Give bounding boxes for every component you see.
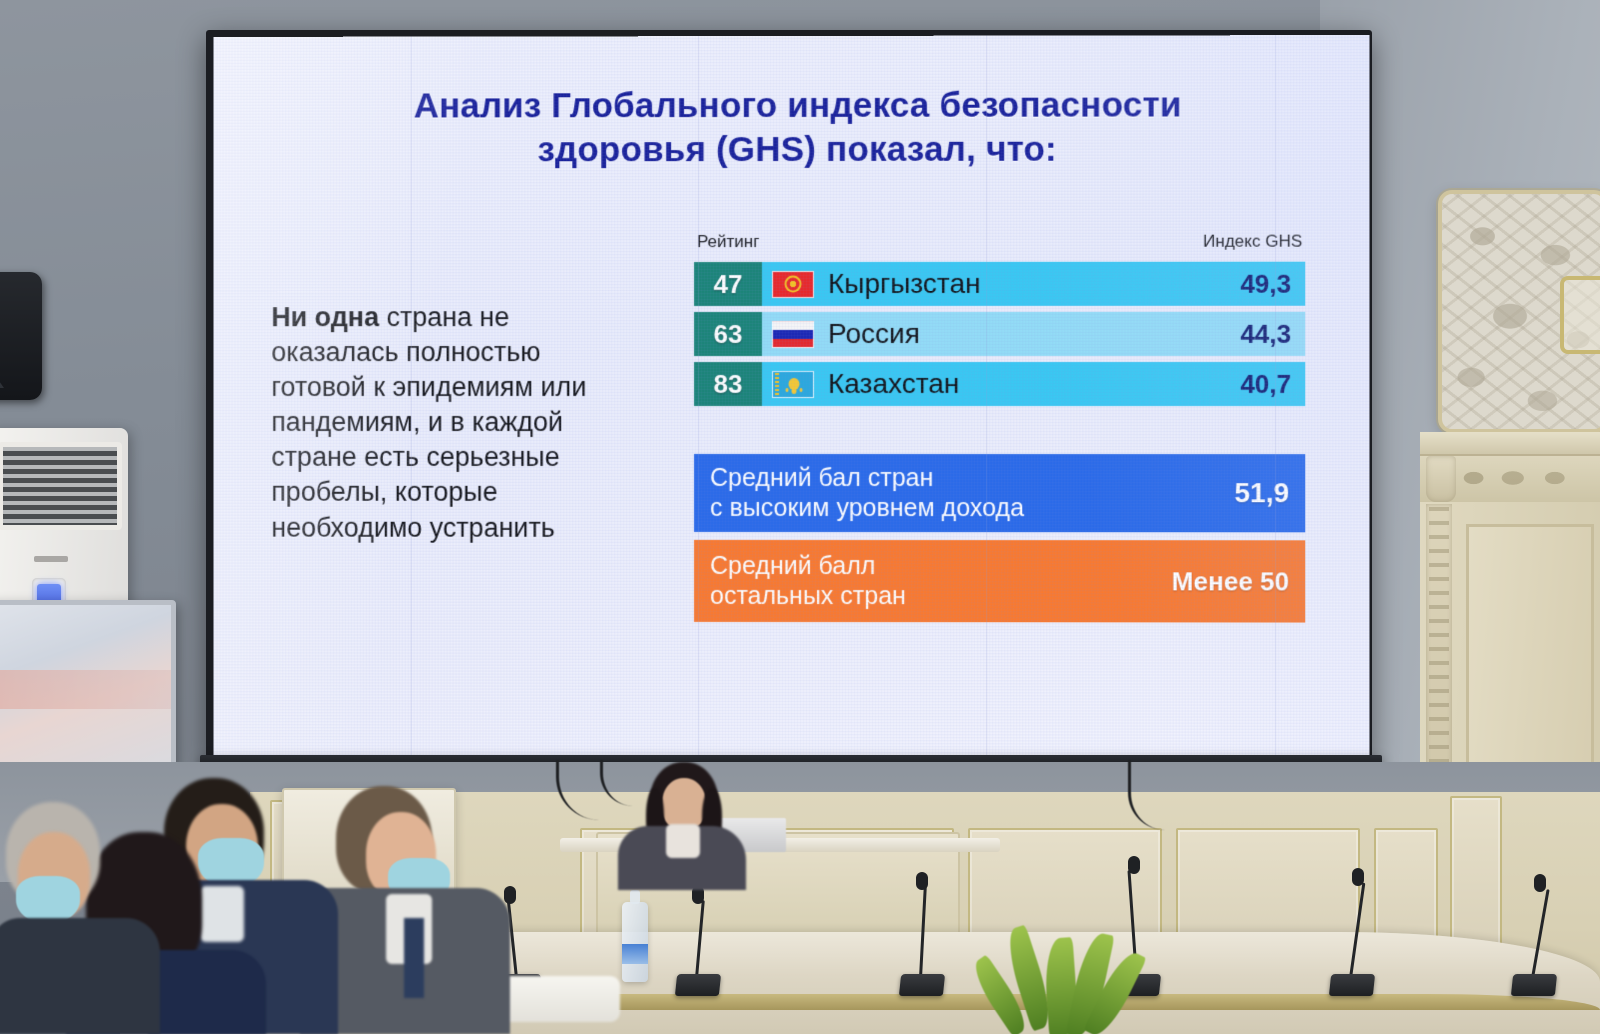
ceiling-speaker-icon [0, 272, 42, 400]
gooseneck-microphone [1330, 866, 1374, 996]
attendee-torso [0, 918, 160, 1034]
door-corbel [1426, 456, 1456, 502]
body-rest: страна не оказалась полностью готовой к … [271, 302, 586, 542]
door-cornice [1420, 432, 1600, 456]
table-row: 47 Кыргызстан 49,3 [694, 262, 1305, 306]
summary-value: 51,9 [1234, 477, 1305, 509]
summary-label: Средний балл остальных стран [694, 542, 1172, 619]
gooseneck-microphone [900, 870, 944, 996]
ghs-index-value: 44,3 [1240, 318, 1305, 349]
ac-brand-logo [34, 556, 68, 562]
slide-body-text: Ни одна страна не оказалась полностью го… [271, 300, 618, 545]
led-screen-display: Анализ Глобального индекса безопасности … [214, 35, 1370, 757]
presenter-face [662, 778, 706, 830]
table-row: 63 Россия 44,3 [694, 312, 1305, 356]
summary-box-other-countries: Средний балл остальных стран Менее 50 [694, 540, 1305, 623]
summary-box-high-income: Средний бал стран с высоким уровнем дохо… [694, 454, 1305, 532]
summary-value: Менее 50 [1172, 566, 1305, 597]
column-header-index: Индекс GHS [1203, 232, 1302, 252]
attendee-shirt [200, 886, 244, 942]
table-row: 83 Казахстан 40,7 [694, 362, 1305, 406]
attendee-face-mask [16, 876, 80, 924]
summary-label-line1: Средний бал стран [710, 462, 1234, 493]
ac-grille-icon [0, 442, 122, 530]
ghs-index-value: 49,3 [1240, 268, 1305, 299]
flag-kazakhstan-icon [772, 370, 814, 397]
summary-label-line2: с высоким уровнем дохода [710, 493, 1234, 524]
country-name: Казахстан [824, 368, 1240, 400]
column-header-rank: Рейтинг [697, 232, 759, 252]
rank-badge: 47 [694, 262, 762, 306]
gooseneck-microphone [676, 880, 720, 996]
flag-kyrgyzstan-icon [772, 270, 814, 297]
wall-medallion-icon [1560, 276, 1600, 354]
body-lead-emphasis: Ни одна [271, 302, 379, 332]
screenshot-root: Анализ Глобального индекса безопасности … [0, 0, 1600, 1034]
country-name: Кыргызстан [824, 268, 1240, 300]
flag-cell [762, 370, 824, 397]
ghs-index-table: Рейтинг Индекс GHS 47 Кыргызстан 49,3 63 [694, 232, 1305, 623]
summary-label: Средний бал стран с высоким уровнем дохо… [694, 454, 1234, 531]
attendee-tie [404, 918, 424, 998]
rank-badge: 83 [694, 362, 762, 406]
water-bottle [622, 902, 648, 982]
flag-russia-icon [772, 320, 814, 347]
ghs-index-value: 40,7 [1240, 368, 1305, 399]
presenter-collar [666, 824, 700, 858]
flag-cell [762, 270, 824, 297]
rank-badge: 63 [694, 312, 762, 356]
summary-label-line1: Средний балл [710, 550, 1172, 581]
damask-wall-panel [1438, 190, 1600, 433]
gooseneck-microphone [1512, 872, 1556, 996]
flag-cell [762, 320, 824, 347]
slide-title: Анализ Глобального индекса безопасности … [413, 83, 1183, 172]
potted-plant [980, 922, 1190, 1034]
country-name: Россия [824, 318, 1240, 350]
table-column-headers: Рейтинг Индекс GHS [694, 232, 1305, 258]
summary-label-line2: остальных стран [710, 581, 1172, 612]
presentation-slide: Анализ Глобального индекса безопасности … [214, 35, 1370, 757]
